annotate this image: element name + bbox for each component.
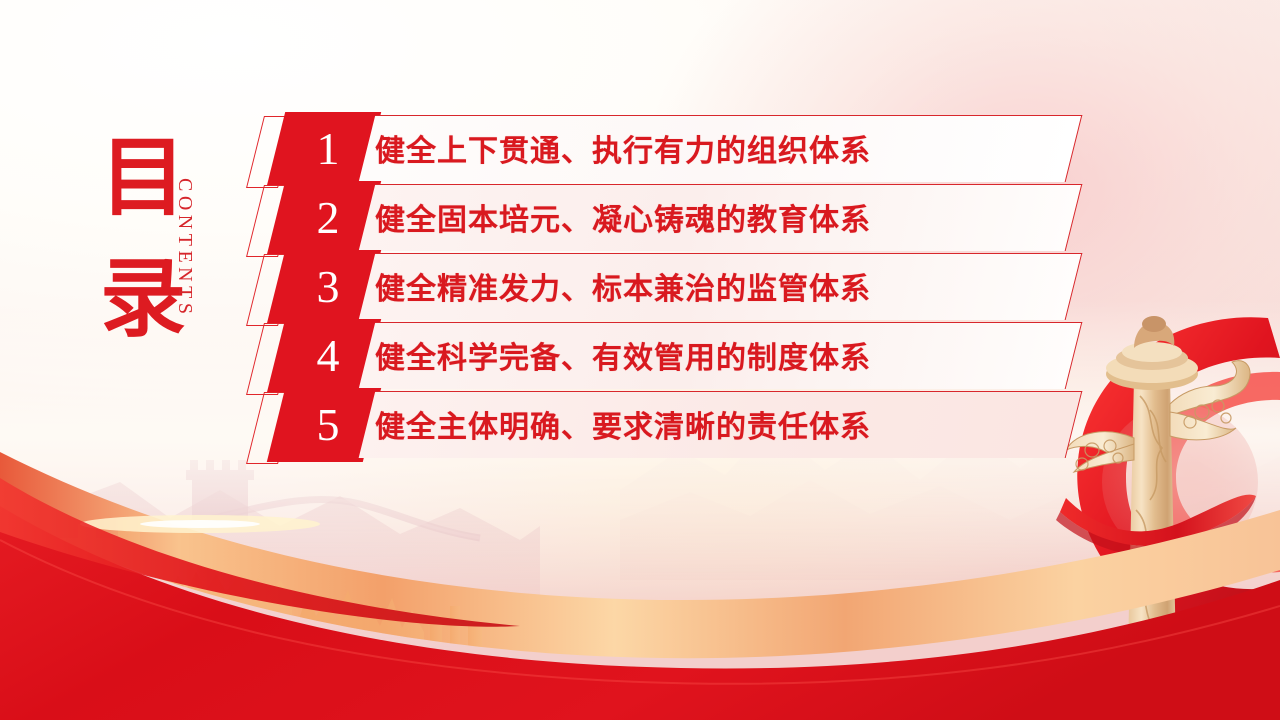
contents-item-4[interactable]: 4 健全科学完备、有效管用的制度体系 [255, 319, 1085, 397]
item-label-3: 健全精准发力、标本兼治的监管体系 [375, 253, 871, 319]
item-label-2: 健全固本培元、凝心铸魂的教育体系 [375, 184, 871, 250]
contents-item-1[interactable]: 1 健全上下贯通、执行有力的组织体系 [255, 112, 1085, 190]
item-label-4: 健全科学完备、有效管用的制度体系 [375, 322, 871, 388]
slide-contents: 目 录 CONTENTS 1 健全上下贯通、执行有力的组织体系 2 健全固本培元… [0, 0, 1280, 720]
contents-item-2[interactable]: 2 健全固本培元、凝心铸魂的教育体系 [255, 181, 1085, 259]
contents-item-5[interactable]: 5 健全主体明确、要求清晰的责任体系 [255, 388, 1085, 466]
item-label-1: 健全上下贯通、执行有力的组织体系 [375, 115, 871, 181]
item-label-5: 健全主体明确、要求清晰的责任体系 [375, 391, 871, 457]
contents-item-3[interactable]: 3 健全精准发力、标本兼治的监管体系 [255, 250, 1085, 328]
contents-list: 1 健全上下贯通、执行有力的组织体系 2 健全固本培元、凝心铸魂的教育体系 3 … [0, 0, 1280, 720]
